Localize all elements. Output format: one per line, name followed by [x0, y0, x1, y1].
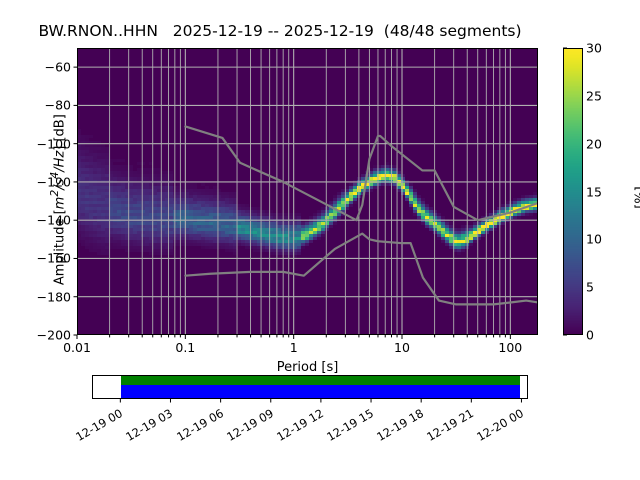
ppsd-figure: BW.RNON..HHN 2025-12-19 -- 2025-12-19 (4…: [0, 0, 640, 480]
time-axis-labels: 12-19 0012-19 0312-19 0612-19 0912-19 12…: [0, 0, 640, 480]
